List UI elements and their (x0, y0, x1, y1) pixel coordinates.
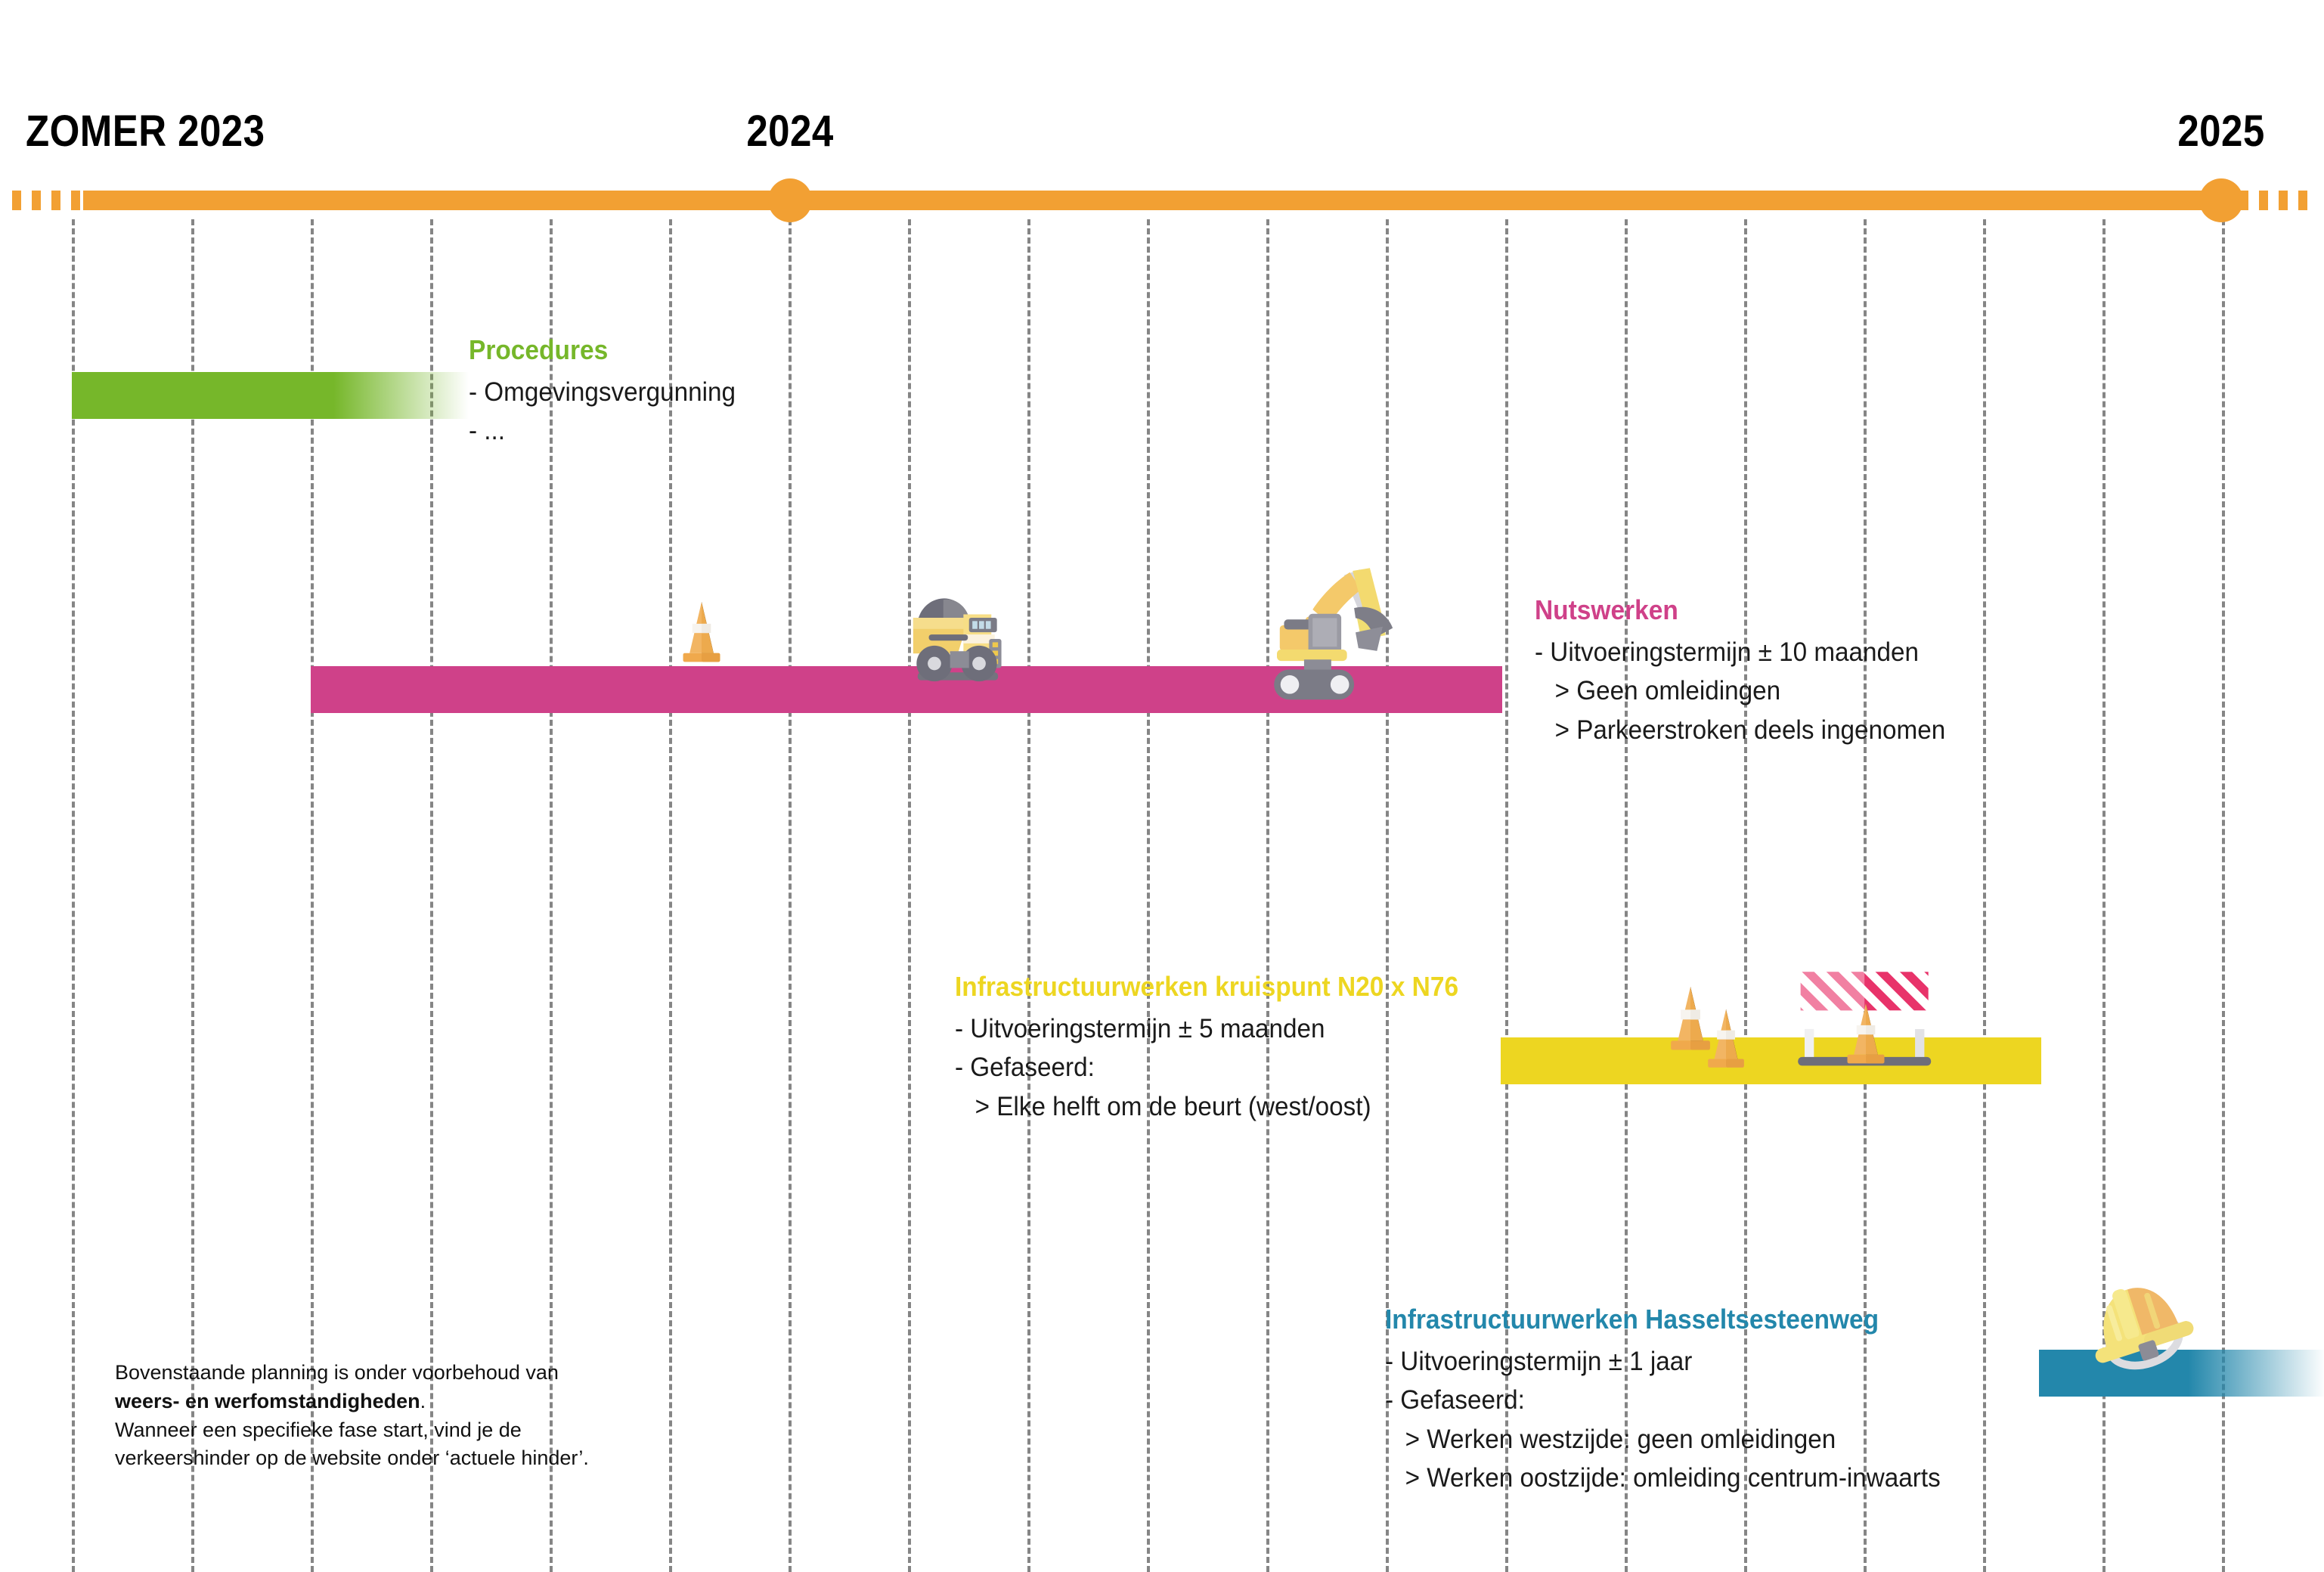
phase-line: > Geen omleidingen (1535, 671, 1945, 711)
phase-title-procedures: Procedures (469, 333, 730, 368)
gridline (789, 219, 792, 1572)
phase-text-nutswerken: Nutswerken- Uitvoeringstermijn ± 10 maan… (1535, 593, 1967, 749)
phase-bar-kruispunt (1501, 1037, 2041, 1084)
phase-line: - Omgevingsvergunning (469, 373, 736, 412)
phase-line: > Werken oostzijde: omleiding centrum-in… (1385, 1459, 1941, 1498)
timeline-start-label: ZOMER 2023 (26, 106, 265, 157)
footnote-line-2-tail: . (420, 1390, 426, 1412)
footnote-line-1: Bovenstaande planning is onder voorbehou… (115, 1359, 589, 1388)
phase-text-procedures: Procedures- Omgevingsvergunning- ... (469, 333, 750, 451)
safety-helmet-icon (2083, 1270, 2196, 1380)
phase-line: - Uitvoeringstermijn ± 5 maanden (955, 1009, 1469, 1049)
phase-line: > Werken westzijde: geen omleidingen (1385, 1420, 1941, 1459)
traffic-cone-icon (674, 597, 729, 665)
phase-title-nutswerken: Nutswerken (1535, 593, 1937, 628)
footnote-line-3: Wanneer een specifieke fase start, vind … (115, 1416, 589, 1445)
phase-line: - Uitvoeringstermijn ± 1 jaar (1385, 1342, 1941, 1381)
phase-bar-procedures (72, 372, 469, 419)
footnote-line-4: verkeershinder op de website onder ‘actu… (115, 1444, 589, 1473)
phase-line: > Parkeerstroken deels ingenomen (1535, 711, 1945, 750)
gridline (1266, 219, 1269, 1572)
axis-line (83, 191, 2223, 210)
phase-text-kruispunt: Infrastructuurwerken kruispunt N20 x N76… (955, 969, 1496, 1126)
traffic-cone-icon (1839, 998, 1893, 1068)
timeline-axis: ZOMER 2023 2024 2025 (0, 0, 2324, 250)
gridline (72, 219, 75, 1572)
gridline (1983, 219, 1986, 1572)
phase-text-hasseltsesteenweg: Infrastructuurwerken Hasseltsesteenweg- … (1385, 1302, 1969, 1498)
phase-title-kruispunt: Infrastructuurwerken kruispunt N20 x N76 (955, 969, 1458, 1005)
milestone-dot-2024 (768, 178, 812, 222)
timeline-infographic: ZOMER 2023 2024 2025 (0, 0, 2324, 1572)
phase-line: - ... (469, 411, 736, 451)
milestone-dot-2025 (2199, 178, 2243, 222)
footnote-emphasis: weers- en werfomstandigheden (115, 1390, 420, 1412)
gridline (908, 219, 911, 1572)
excavator-icon (1269, 558, 1442, 715)
phase-line: - Gefaseerd: (1385, 1381, 1941, 1420)
footnote-line-2: weers- en werfomstandigheden. (115, 1388, 589, 1416)
phase-title-hasseltsesteenweg: Infrastructuurwerken Hasseltsesteenweg (1385, 1302, 1929, 1338)
dump-truck-icon (860, 582, 1005, 696)
axis-dotted-start (12, 191, 85, 210)
timeline-mid-label: 2024 (746, 106, 833, 157)
phase-line: - Gefaseerd: (955, 1048, 1469, 1087)
phase-line: - Uitvoeringstermijn ± 10 maanden (1535, 633, 1945, 672)
footnote: Bovenstaande planning is onder voorbehou… (115, 1359, 589, 1473)
timeline-end-label: 2025 (2177, 106, 2264, 157)
gridline (1027, 219, 1030, 1572)
gridline (1147, 219, 1150, 1572)
traffic-cone-icon (1700, 1006, 1752, 1070)
phase-line: > Elke helft om de beurt (west/oost) (955, 1087, 1469, 1127)
